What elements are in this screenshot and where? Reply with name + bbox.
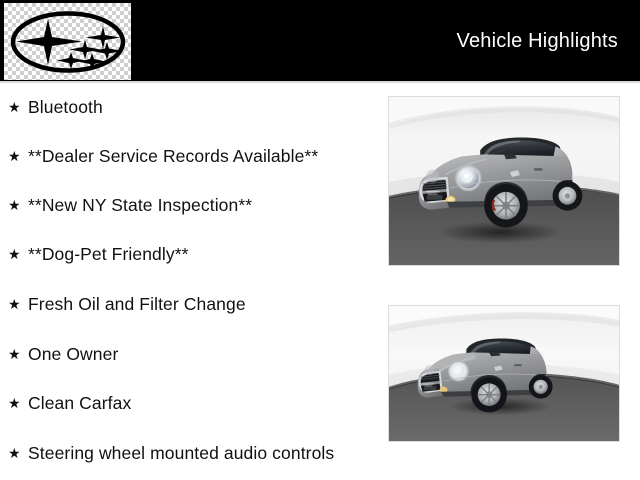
list-item: ★ Clean Carfax <box>8 392 131 414</box>
star-bullet-icon: ★ <box>8 293 28 315</box>
list-item-label: One Owner <box>28 343 118 365</box>
vehicle-highlights-list: ★ Bluetooth ★ **Dealer Service Records A… <box>0 81 380 480</box>
list-item-label: Bluetooth <box>28 96 103 118</box>
list-item: ★ Bluetooth <box>8 96 103 118</box>
list-item-label: Fresh Oil and Filter Change <box>28 293 246 315</box>
star-bullet-icon: ★ <box>8 243 28 265</box>
star-bullet-icon: ★ <box>8 194 28 216</box>
list-item: ★ Steering wheel mounted audio controls <box>8 442 334 464</box>
list-item: ★ **Dealer Service Records Available** <box>8 145 318 167</box>
dealer-logo <box>4 3 131 80</box>
list-item-label: Steering wheel mounted audio controls <box>28 442 334 464</box>
star-bullet-icon: ★ <box>8 145 28 167</box>
list-item-label: **Dog-Pet Friendly** <box>28 243 189 265</box>
vehicle-highlights-slide: Vehicle Highlights ★ Bluetooth ★ **Deale… <box>0 0 640 480</box>
page-title: Vehicle Highlights <box>457 29 618 53</box>
vehicle-photo-front-three-quarter-wide[interactable] <box>388 305 620 442</box>
list-item-label: **New NY State Inspection** <box>28 194 252 216</box>
star-bullet-icon: ★ <box>8 343 28 365</box>
list-item-label: Clean Carfax <box>28 392 131 414</box>
vehicle-photo-front-three-quarter[interactable] <box>388 96 620 266</box>
vehicle-photo-1-graphic <box>389 97 619 265</box>
list-item: ★ **New NY State Inspection** <box>8 194 252 216</box>
list-item: ★ **Dog-Pet Friendly** <box>8 243 189 265</box>
subaru-star-oval-logo <box>9 9 127 75</box>
list-item: ★ Fresh Oil and Filter Change <box>8 293 246 315</box>
star-bullet-icon: ★ <box>8 96 28 118</box>
vehicle-photo-2-graphic <box>389 306 619 441</box>
list-item: ★ One Owner <box>8 343 118 365</box>
star-bullet-icon: ★ <box>8 442 28 464</box>
list-item-label: **Dealer Service Records Available** <box>28 145 318 167</box>
star-bullet-icon: ★ <box>8 392 28 414</box>
